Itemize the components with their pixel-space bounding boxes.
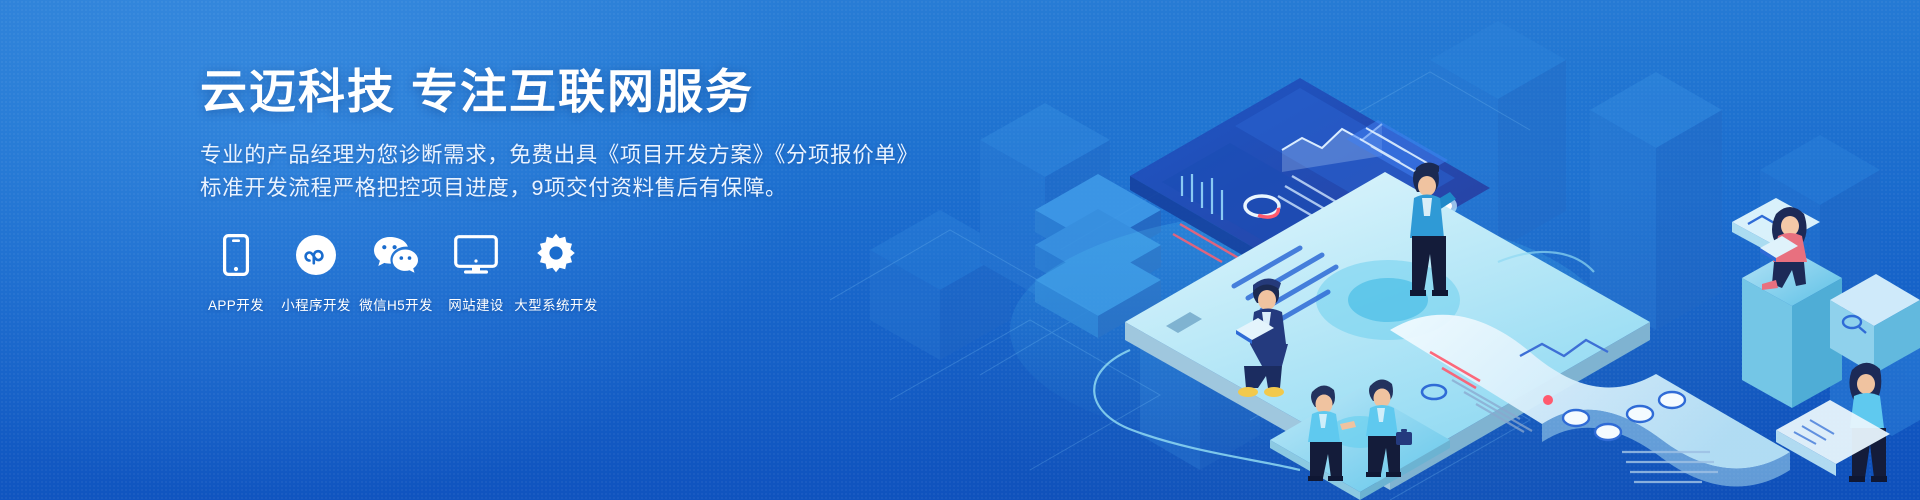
wechat-icon [372, 232, 420, 278]
pedestal-right [1742, 250, 1842, 408]
banner-copy: 云迈科技 专注互联网服务 专业的产品经理为您诊断需求，免费出具《项目开发方案》《… [200, 62, 900, 205]
subtitle-line-1: 专业的产品经理为您诊断需求，免费出具《项目开发方案》《分项报价单》 [200, 139, 900, 172]
subtitle-block: 专业的产品经理为您诊断需求，免费出具《项目开发方案》《分项报价单》 标准开发流程… [200, 121, 900, 205]
service-item-large-system[interactable]: 大型系统开发 [520, 232, 592, 314]
subtitle-line-2: 标准开发流程严格把控项目进度，9项交付资料售后有保障。 [200, 172, 900, 205]
service-item-website[interactable]: 网站建设 [440, 232, 512, 314]
service-item-app[interactable]: APP开发 [200, 232, 272, 314]
service-label: 网站建设 [448, 294, 504, 314]
page-title: 云迈科技 专注互联网服务 [200, 62, 900, 121]
monitor-icon [454, 232, 498, 278]
mini-program-icon [295, 232, 337, 278]
service-label: APP开发 [208, 294, 264, 314]
service-list: APP开发 小程序开发 微信 [200, 232, 600, 314]
mobile-phone-icon [223, 232, 249, 278]
service-label: 大型系统开发 [514, 294, 597, 314]
service-label: 小程序开发 [281, 294, 351, 314]
gear-icon [534, 232, 578, 278]
service-label: 微信H5开发 [359, 294, 433, 314]
promo-banner: 云迈科技 专注互联网服务 专业的产品经理为您诊断需求，免费出具《项目开发方案》《… [0, 0, 1920, 500]
isometric-illustration [830, 0, 1920, 500]
service-item-wechat-h5[interactable]: 微信H5开发 [360, 232, 432, 314]
service-item-mini-program[interactable]: 小程序开发 [280, 232, 352, 314]
